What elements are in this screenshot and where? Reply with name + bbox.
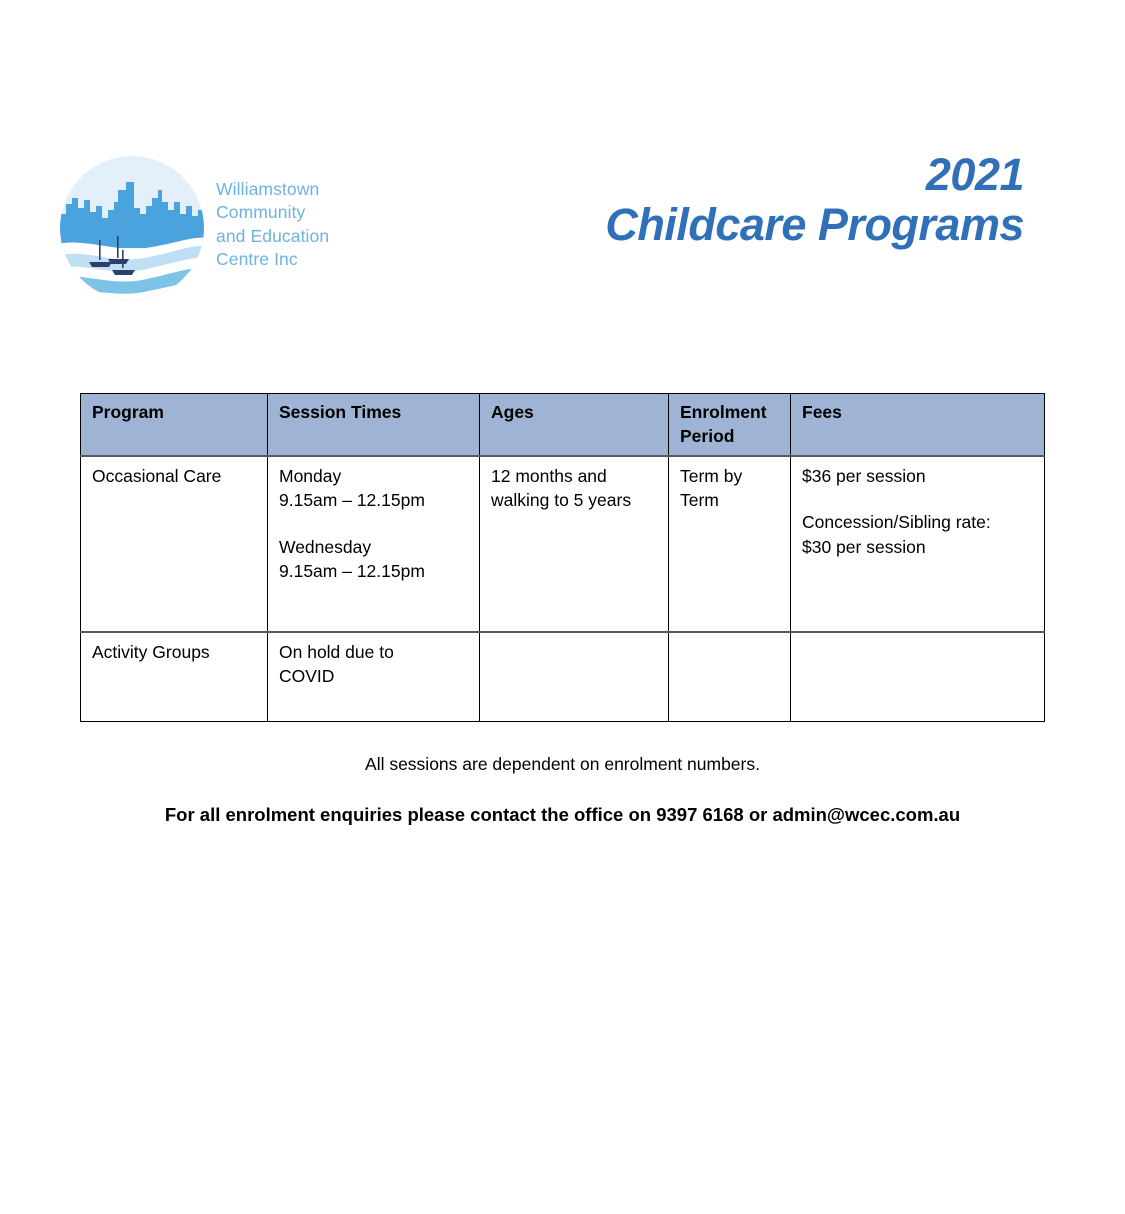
cell-fees bbox=[791, 632, 1045, 722]
column-header-fees: Fees bbox=[791, 394, 1045, 457]
organisation-name: Williamstown Community and Education Cen… bbox=[216, 178, 329, 271]
session-day-1: Monday bbox=[279, 464, 479, 488]
program-name: Occasional Care bbox=[92, 464, 267, 488]
note-enrolment-dependency: All sessions are dependent on enrolment … bbox=[0, 752, 1125, 777]
logo-line-1: Williamstown bbox=[216, 178, 329, 201]
cell-session-times: On hold due to COVID bbox=[268, 632, 480, 722]
fee-concession-amount: $30 per session bbox=[802, 535, 1044, 559]
page-title: 2021 Childcare Programs bbox=[605, 150, 1024, 251]
table-row: Occasional Care Monday 9.15am – 12.15pm … bbox=[81, 456, 1045, 632]
cell-ages: 12 months and walking to 5 years bbox=[480, 456, 669, 632]
session-time-2: 9.15am – 12.15pm bbox=[279, 559, 479, 583]
session-time-1: 9.15am – 12.15pm bbox=[279, 488, 479, 512]
childcare-programs-table: Program Session Times Ages Enrolment Per… bbox=[80, 393, 1045, 722]
footer-notes: All sessions are dependent on enrolment … bbox=[0, 752, 1125, 827]
column-header-ages: Ages bbox=[480, 394, 669, 457]
table-header-row: Program Session Times Ages Enrolment Per… bbox=[81, 394, 1045, 457]
session-spacer bbox=[279, 513, 479, 535]
column-header-session-times: Session Times bbox=[268, 394, 480, 457]
logo-line-3: and Education bbox=[216, 225, 329, 248]
enrolment-line-1: Term by bbox=[680, 464, 790, 488]
title-main: Childcare Programs bbox=[605, 200, 1024, 250]
enrolment-line-2: Term bbox=[680, 488, 790, 512]
williamstown-circle-skyline-logo-icon bbox=[56, 152, 208, 304]
session-status-line-1: On hold due to bbox=[279, 640, 479, 664]
cell-enrolment-period: Term by Term bbox=[669, 456, 791, 632]
cell-enrolment-period bbox=[669, 632, 791, 722]
title-year: 2021 bbox=[605, 150, 1024, 200]
session-day-2: Wednesday bbox=[279, 535, 479, 559]
column-header-program: Program bbox=[81, 394, 268, 457]
ages-line-2: walking to 5 years bbox=[491, 488, 668, 512]
ages-line-1: 12 months and bbox=[491, 464, 668, 488]
page-header: Williamstown Community and Education Cen… bbox=[0, 0, 1125, 330]
cell-fees: $36 per session Concession/Sibling rate:… bbox=[791, 456, 1045, 632]
logo-line-4: Centre Inc bbox=[216, 248, 329, 271]
cell-program: Occasional Care bbox=[81, 456, 268, 632]
cell-program: Activity Groups bbox=[81, 632, 268, 722]
fees-spacer bbox=[802, 488, 1044, 510]
note-contact-details: For all enrolment enquiries please conta… bbox=[0, 802, 1125, 828]
table-row: Activity Groups On hold due to COVID bbox=[81, 632, 1045, 722]
logo-line-2: Community bbox=[216, 201, 329, 224]
session-status-line-2: COVID bbox=[279, 664, 479, 688]
fee-standard: $36 per session bbox=[802, 464, 1044, 488]
cell-ages bbox=[480, 632, 669, 722]
column-header-enrolment-period: Enrolment Period bbox=[669, 394, 791, 457]
cell-session-times: Monday 9.15am – 12.15pm Wednesday 9.15am… bbox=[268, 456, 480, 632]
organisation-logo: Williamstown Community and Education Cen… bbox=[56, 152, 356, 307]
program-name: Activity Groups bbox=[92, 640, 267, 664]
fee-concession-label: Concession/Sibling rate: bbox=[802, 510, 1044, 534]
